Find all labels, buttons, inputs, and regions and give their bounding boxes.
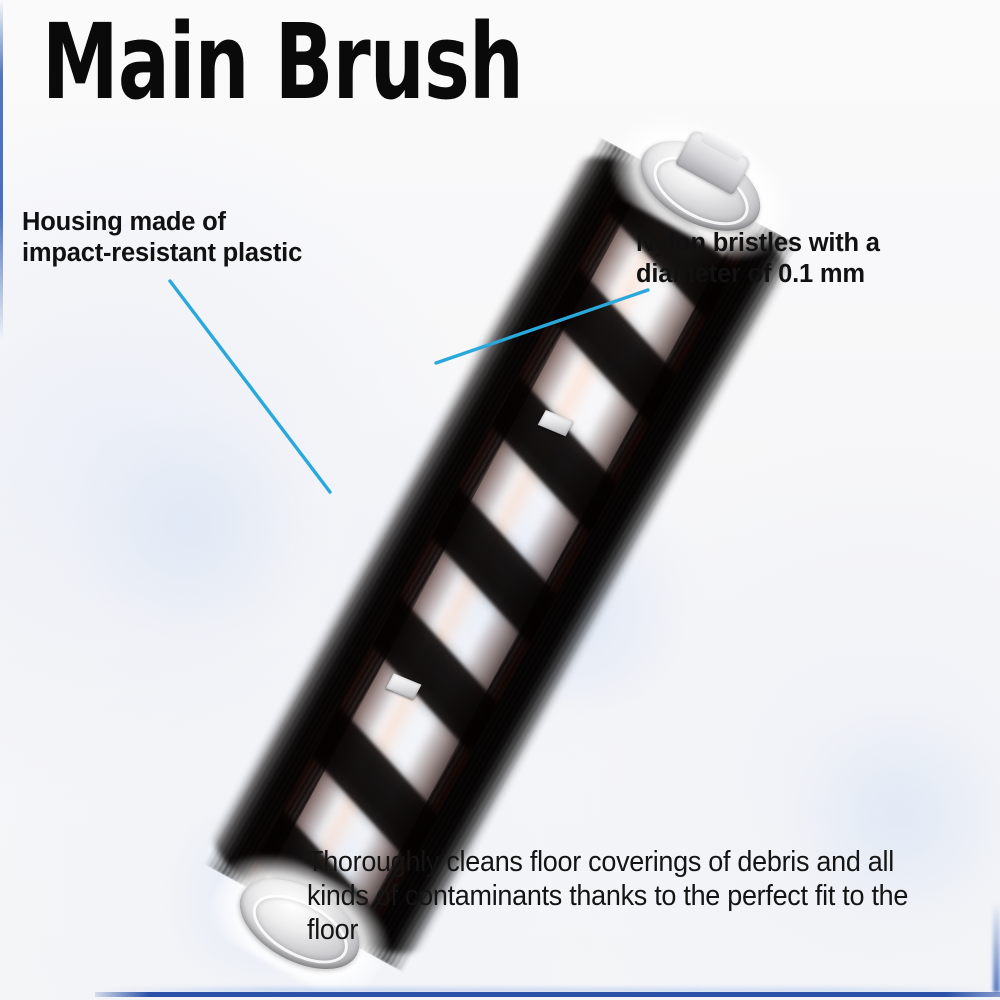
left-border xyxy=(0,0,3,340)
background-wisp xyxy=(60,420,320,630)
bottom-border xyxy=(95,992,1000,997)
right-border-corner xyxy=(993,902,1000,992)
callout-label-housing: Housing made of impact-resistant plastic xyxy=(22,207,302,269)
page-title: Main Brush xyxy=(42,10,523,114)
product-caption: Thoroughly cleans floor coverings of deb… xyxy=(307,845,949,947)
infographic-canvas: Main Brush Housing made of impact-resist… xyxy=(0,0,1000,1000)
callout-label-bristles: Nylon bristles with a diameter of 0.1 mm xyxy=(636,228,880,290)
